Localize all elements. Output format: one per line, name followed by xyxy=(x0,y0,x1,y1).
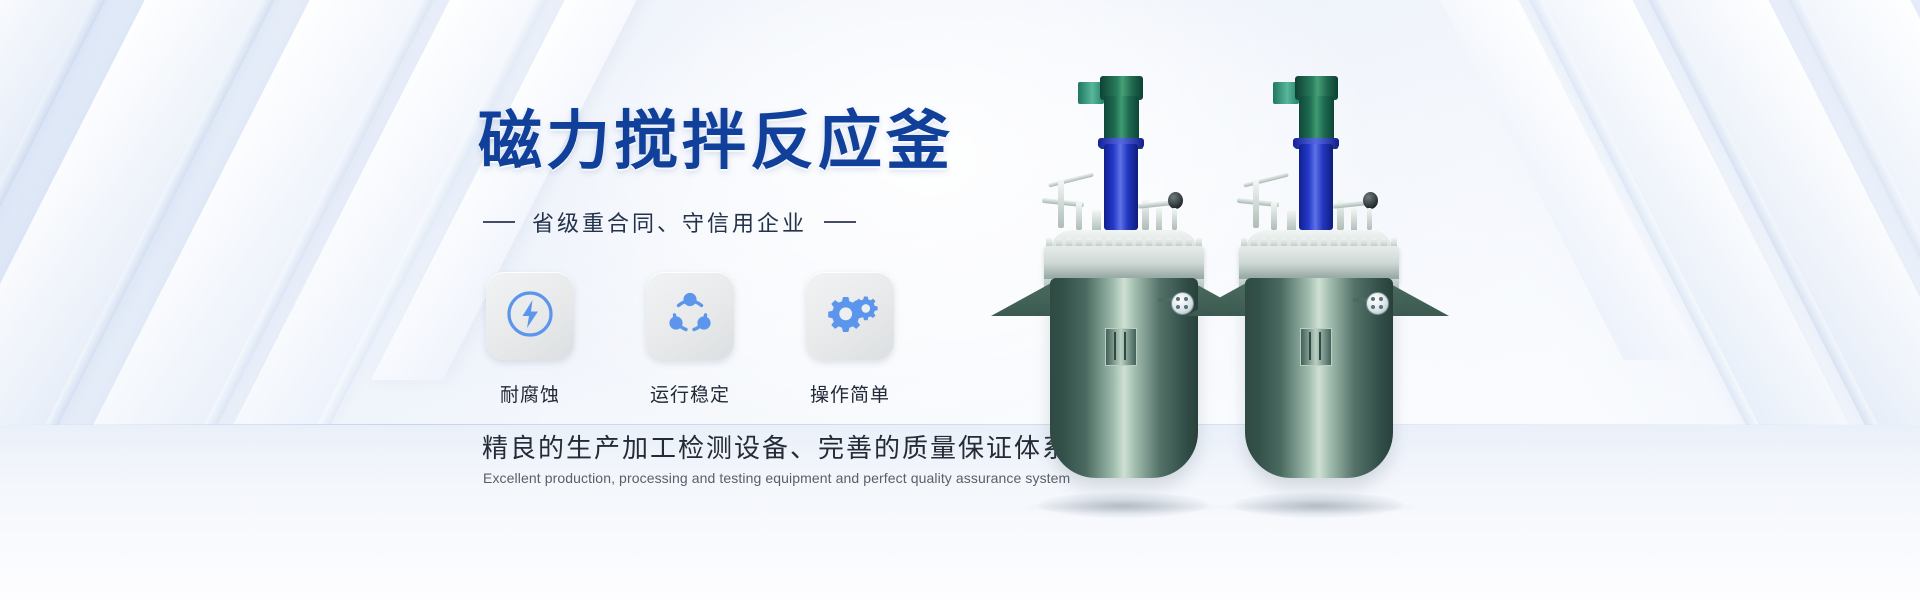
reactor-unit-2 xyxy=(1215,60,1420,520)
dash-right-icon xyxy=(824,221,856,223)
banner-content: 磁力搅拌反应釜 省级重合同、守信用企业 耐腐蚀 xyxy=(0,0,1100,600)
pressure-gauge xyxy=(1171,292,1194,315)
feature-label: 耐腐蚀 xyxy=(500,380,560,407)
nozzle-left-1 xyxy=(1253,180,1259,228)
pressure-gauge xyxy=(1366,292,1389,315)
feature-icon-box xyxy=(486,272,574,360)
nozzle-far-right xyxy=(1367,208,1372,230)
feature-list: 耐腐蚀 运行稳定 xyxy=(486,272,894,407)
sight-glass-ball xyxy=(1363,192,1378,209)
magnetic-drive xyxy=(1299,144,1333,230)
feature-item-stable-operation[interactable]: 运行稳定 xyxy=(646,272,734,407)
tagline-english: Excellent production, processing and tes… xyxy=(483,470,1070,486)
feature-label: 运行稳定 xyxy=(650,380,730,407)
nozzle-left-2 xyxy=(1076,202,1082,230)
ground-shadow xyxy=(1233,492,1403,518)
ground-shadow xyxy=(1038,492,1208,518)
lightning-bolt-circle-icon xyxy=(503,287,557,346)
nameplate xyxy=(1105,328,1137,366)
feature-item-corrosion-resistant[interactable]: 耐腐蚀 xyxy=(486,272,574,407)
sight-glass-ball xyxy=(1168,192,1183,209)
gauge-pipe xyxy=(1158,298,1172,302)
feature-label: 操作简单 xyxy=(810,380,890,407)
motor xyxy=(1104,96,1139,142)
nozzle-center xyxy=(1287,210,1296,232)
magnetic-drive xyxy=(1104,144,1138,230)
nozzle-far-right xyxy=(1172,208,1177,230)
nozzle-right-2 xyxy=(1156,208,1162,232)
feature-item-simple-operation[interactable]: 操作简单 xyxy=(806,272,894,407)
feature-icon-box xyxy=(646,272,734,360)
reactor-unit-1 xyxy=(1020,60,1225,520)
tagline-chinese: 精良的生产加工检测设备、完善的质量保证体系 xyxy=(482,428,1070,465)
nameplate xyxy=(1300,328,1332,366)
motor xyxy=(1299,96,1334,142)
product-image-group xyxy=(1020,60,1440,520)
share-nodes-icon xyxy=(663,287,717,346)
banner-title: 磁力搅拌反应釜 xyxy=(478,110,954,174)
banner-subtitle: 省级重合同、守信用企业 xyxy=(532,206,807,238)
gears-icon xyxy=(822,288,878,345)
nozzle-left-2 xyxy=(1271,202,1277,230)
nozzle-left-1 xyxy=(1058,180,1064,228)
top-pipe-left xyxy=(1243,172,1289,187)
top-pipe-left xyxy=(1048,172,1094,187)
feature-icon-box xyxy=(806,272,894,360)
gauge-pipe xyxy=(1353,298,1367,302)
banner-subtitle-row: 省级重合同、守信用企业 xyxy=(483,206,856,238)
dash-left-icon xyxy=(483,221,515,223)
product-banner: 磁力搅拌反应釜 省级重合同、守信用企业 耐腐蚀 xyxy=(0,0,1920,600)
nozzle-center xyxy=(1092,210,1101,232)
nozzle-right-2 xyxy=(1351,208,1357,232)
